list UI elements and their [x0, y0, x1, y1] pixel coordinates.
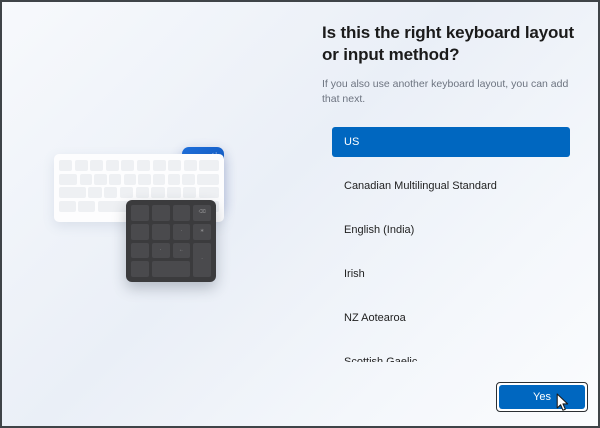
numpad-key-glyph: ∗ — [193, 224, 211, 240]
numpad-key: ∗ — [193, 224, 211, 240]
keyboard-key — [153, 160, 166, 171]
numpad-key — [131, 243, 149, 259]
keyboard-key — [168, 160, 181, 171]
keyboard-key — [104, 187, 117, 198]
yes-button[interactable]: Yes — [499, 385, 585, 409]
keyboard-key — [59, 174, 77, 185]
numpad-key-glyph — [152, 261, 191, 277]
numpad-key-glyph: · — [193, 243, 211, 278]
layout-option-canadian-multilingual-standard[interactable]: Canadian Multilingual Standard — [332, 171, 570, 201]
numpad-backspace-key: ⌫ — [193, 205, 211, 221]
keyboard-key — [80, 174, 92, 185]
layout-option-english-india[interactable]: English (India) — [332, 215, 570, 245]
setup-screen: ↵ — [0, 0, 600, 428]
keyboard-key — [199, 160, 219, 171]
keyboard-key — [136, 187, 149, 198]
setup-content: Is this the right keyboard layout or inp… — [322, 2, 584, 428]
layout-option-nz-aotearoa[interactable]: NZ Aotearoa — [332, 303, 570, 333]
keyboard-key — [121, 160, 134, 171]
numpad-key — [131, 205, 149, 221]
numpad-zero-key — [152, 261, 191, 277]
keyboard-key — [90, 160, 103, 171]
numpad-key: · — [152, 243, 170, 259]
numpad-key-glyph — [152, 224, 170, 240]
keyboard-row — [59, 174, 219, 185]
keyboard-key — [182, 174, 194, 185]
numpad-key-glyph — [131, 261, 149, 277]
yes-button-focus-ring: Yes — [496, 382, 588, 412]
numpad-key — [173, 205, 191, 221]
numpad-key — [152, 205, 170, 221]
layout-option-us[interactable]: US — [332, 127, 570, 157]
numpad-key-glyph: ← — [173, 243, 191, 259]
keyboard-row — [59, 187, 219, 198]
numpad-enter-key: · — [193, 243, 211, 278]
numpad-key — [152, 224, 170, 240]
keyboard-key — [137, 160, 150, 171]
numpad-key-glyph — [152, 205, 170, 221]
keyboard-key — [59, 201, 76, 212]
keyboard-key — [59, 187, 86, 198]
keyboard-illustration: ↵ — [30, 142, 280, 322]
layout-option-scottish-gaelic[interactable]: Scottish Gaelic — [332, 347, 570, 362]
numpad-key-glyph: · — [173, 224, 191, 240]
keyboard-key — [199, 187, 219, 198]
keyboard-key — [106, 160, 119, 171]
page-title: Is this the right keyboard layout or inp… — [322, 2, 584, 66]
numpad-key-glyph — [131, 243, 149, 259]
keyboard-key — [78, 201, 95, 212]
numpad-key-glyph: · — [152, 243, 170, 259]
numpad-key: · — [173, 224, 191, 240]
keyboard-row — [59, 160, 219, 171]
keyboard-key — [94, 174, 106, 185]
keyboard-layout-list[interactable]: US Canadian Multilingual Standard Englis… — [332, 127, 570, 362]
numpad-key-glyph — [131, 224, 149, 240]
keyboard-key — [168, 174, 180, 185]
numpad-key-glyph — [173, 205, 191, 221]
numpad-key: ← — [173, 243, 191, 259]
keyboard-key — [184, 160, 197, 171]
backspace-icon: ⌫ — [193, 205, 211, 221]
page-subtitle: If you also use another keyboard layout,… — [322, 66, 584, 109]
numpad-key — [131, 261, 149, 277]
keyboard-key — [124, 174, 136, 185]
keyboard-key — [109, 174, 121, 185]
keyboard-key — [75, 160, 88, 171]
keyboard-key — [138, 174, 150, 185]
numpad-key-glyph — [131, 205, 149, 221]
keyboard-key — [88, 187, 101, 198]
keyboard-key — [183, 187, 196, 198]
keyboard-key — [167, 187, 180, 198]
keyboard-key — [59, 160, 72, 171]
keyboard-key — [120, 187, 133, 198]
keyboard-key — [151, 187, 164, 198]
layout-option-irish[interactable]: Irish — [332, 259, 570, 289]
keyboard-key — [197, 174, 219, 185]
keyboard-key — [153, 174, 165, 185]
numpad-key — [131, 224, 149, 240]
numpad-graphic: ⌫ · ∗ · ← · — [126, 200, 216, 282]
